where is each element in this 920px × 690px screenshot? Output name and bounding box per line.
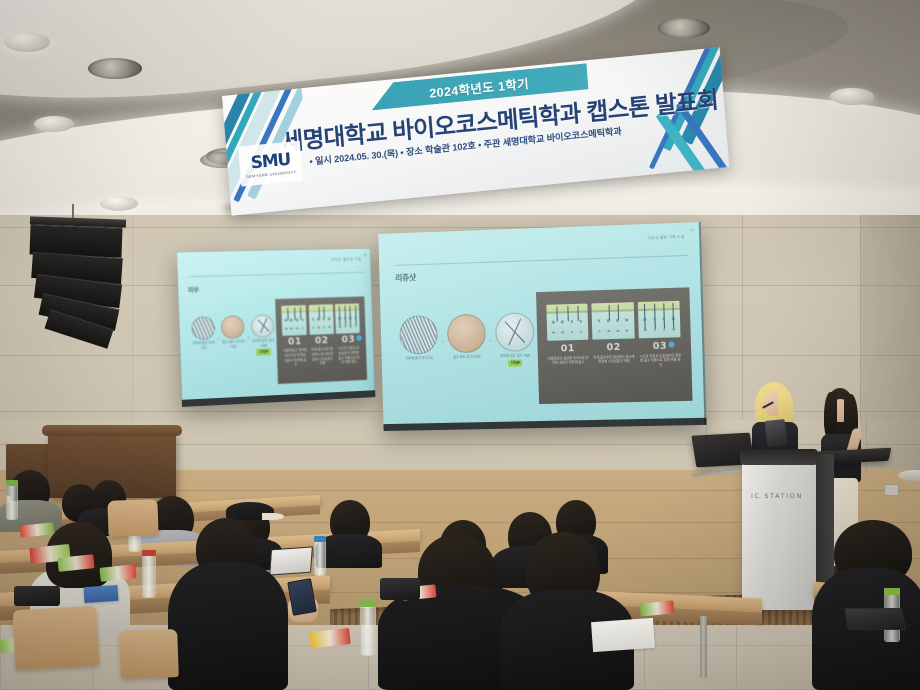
bottle-cap-4 [360, 600, 376, 607]
handout-paper-1[interactable] [591, 618, 655, 652]
ceiling-vent-1 [88, 58, 142, 79]
water-bottle-3[interactable] [142, 554, 156, 598]
banner-semester-text: 2024학년도 1학기 [428, 73, 529, 102]
projection-screen-right: 07 리쥬샷 플랜 기획 드림 리쥬샷 피부에 붙인 마이크로 › 흡수 패드 … [378, 222, 706, 431]
ceiling-lamp-3 [100, 196, 138, 211]
water-bottle-1[interactable] [6, 484, 18, 520]
wall-outlet [884, 484, 899, 496]
ceiling-lamp-2 [34, 116, 74, 132]
presenter-first-tablet [765, 419, 788, 447]
presenter-second-hair-front [824, 392, 837, 440]
handout-paper-2[interactable] [83, 585, 118, 603]
podium: IC STATION [742, 458, 816, 610]
podium-brand-label: IC STATION [751, 492, 803, 500]
smu-logo-mark: SMU [250, 149, 291, 173]
desk-leg-right-3 [700, 616, 707, 678]
bottle-cap-6 [884, 588, 900, 595]
audience-cap-brim [262, 513, 284, 520]
bottle-cap-5 [314, 536, 326, 542]
chair-back-2[interactable] [107, 499, 158, 537]
lectern-top-rail [42, 425, 182, 436]
audience-shoulders-fg-center [168, 562, 288, 690]
chair-back-3[interactable] [119, 629, 179, 679]
water-bottle-4[interactable] [360, 604, 376, 656]
ceiling-lamp-4 [830, 88, 874, 105]
projection-screen-left: 06 바이오 콜라겐 드림 피부 피부에 붙인 마이크로 › 흡수 패드 미크로… [177, 248, 376, 407]
bottle-cap-1 [6, 480, 18, 486]
ceiling-lamp-1 [4, 32, 50, 52]
smu-logo: SMU SEMYUNG UNIVERSITY [238, 141, 303, 187]
chair-back-1[interactable] [12, 606, 99, 670]
desk-bag-2[interactable] [14, 586, 60, 606]
podium-top-surface [740, 449, 818, 465]
line-array-speaker [26, 218, 128, 344]
lecture-hall-scene: 2024학년도 1학기 세명대학교 바이오코스메틱학과 캡스톤 발표회 • 일시… [0, 0, 920, 690]
water-bottle-5[interactable] [314, 540, 326, 576]
bottle-cap-3 [142, 550, 156, 556]
ceiling-vent-3 [658, 18, 710, 38]
audience-laptop-2[interactable] [844, 608, 906, 630]
desk-bag[interactable] [380, 578, 420, 600]
audience-laptop[interactable] [269, 546, 313, 575]
